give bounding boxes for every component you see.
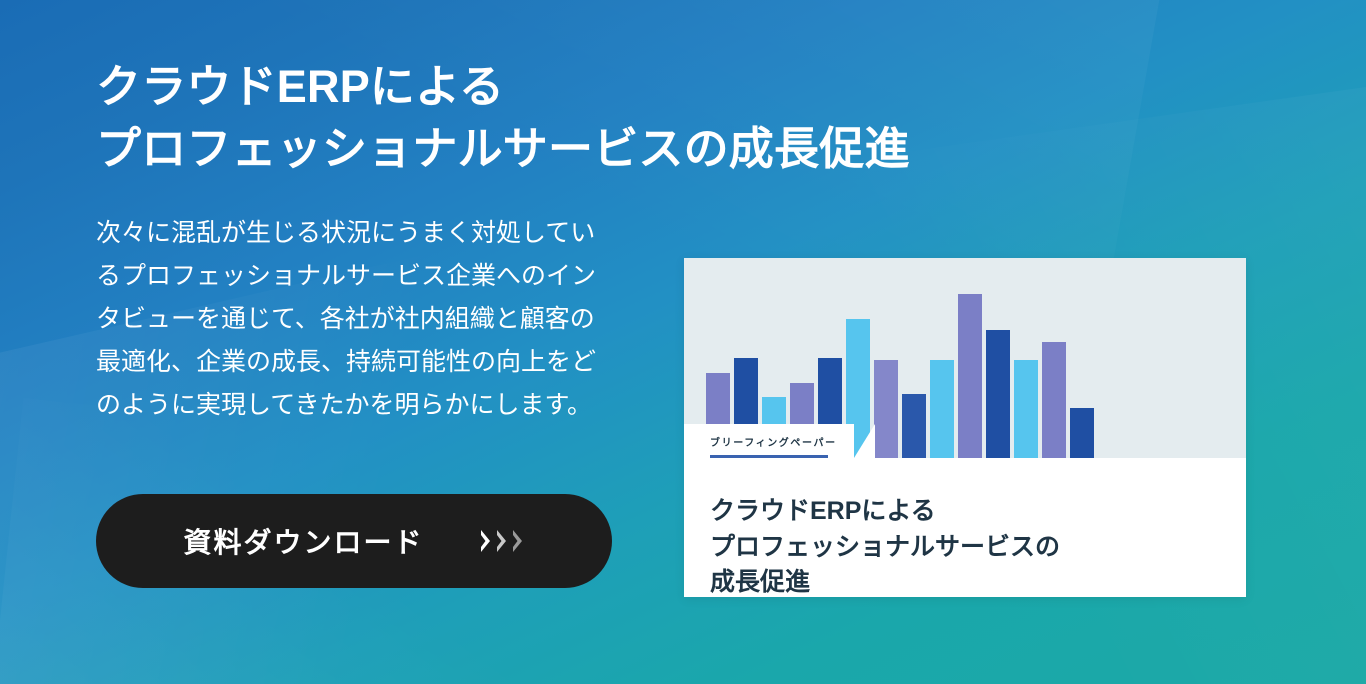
document-title: クラウドERPによる プロフェッショナルサービスの 成長促進 — [710, 494, 1246, 597]
briefing-paper-thumbnail[interactable]: ブリーフィングペーパー クラウドERPによる プロフェッショナルサービスの 成長… — [684, 258, 1246, 597]
document-kicker-label: ブリーフィングペーパー — [684, 434, 837, 449]
bar-chart: ブリーフィングペーパー — [684, 258, 1246, 458]
bar-chart-bar — [1014, 360, 1038, 458]
bar-chart-bar — [986, 330, 1010, 458]
bar-chart-bar — [958, 294, 982, 458]
page-title: クラウドERPによる プロフェッショナルサービスの成長促進 — [96, 56, 656, 180]
hero-text-column: クラウドERPによる プロフェッショナルサービスの成長促進 次々に混乱が生じる状… — [96, 56, 656, 427]
document-kicker-tab: ブリーフィングペーパー — [684, 424, 854, 458]
document-title-line-1: クラウドERPによる — [710, 494, 1246, 530]
chevron-right-icon-3 — [512, 528, 525, 554]
bar-chart-bar — [902, 394, 926, 458]
bar-chart-bar — [930, 360, 954, 458]
document-title-line-3: 成長促進 — [710, 565, 1246, 597]
chevron-right-icon-2 — [496, 528, 509, 554]
double-chevron-right-icon — [480, 528, 525, 554]
bar-chart-bar — [1042, 342, 1066, 458]
download-button[interactable]: 資料ダウンロード — [96, 494, 612, 588]
document-card-body: クラウドERPによる プロフェッショナルサービスの 成長促進 — [684, 458, 1246, 597]
page-title-line-2: プロフェッショナルサービスの成長促進 — [96, 118, 656, 180]
hero-banner: クラウドERPによる プロフェッショナルサービスの成長促進 次々に混乱が生じる状… — [0, 0, 1366, 684]
chevron-right-icon-1 — [480, 528, 493, 554]
document-title-line-2: プロフェッショナルサービスの — [710, 530, 1246, 566]
bar-chart-bar — [1070, 408, 1094, 458]
page-title-line-1: クラウドERPによる — [96, 56, 656, 118]
document-kicker-rule — [710, 455, 828, 458]
download-button-label: 資料ダウンロード — [183, 521, 423, 561]
bar-chart-bar — [874, 360, 898, 458]
hero-description: 次々に混乱が生じる状況にうまく対処しているプロフェッショナルサービス企業へのイン… — [96, 212, 616, 427]
